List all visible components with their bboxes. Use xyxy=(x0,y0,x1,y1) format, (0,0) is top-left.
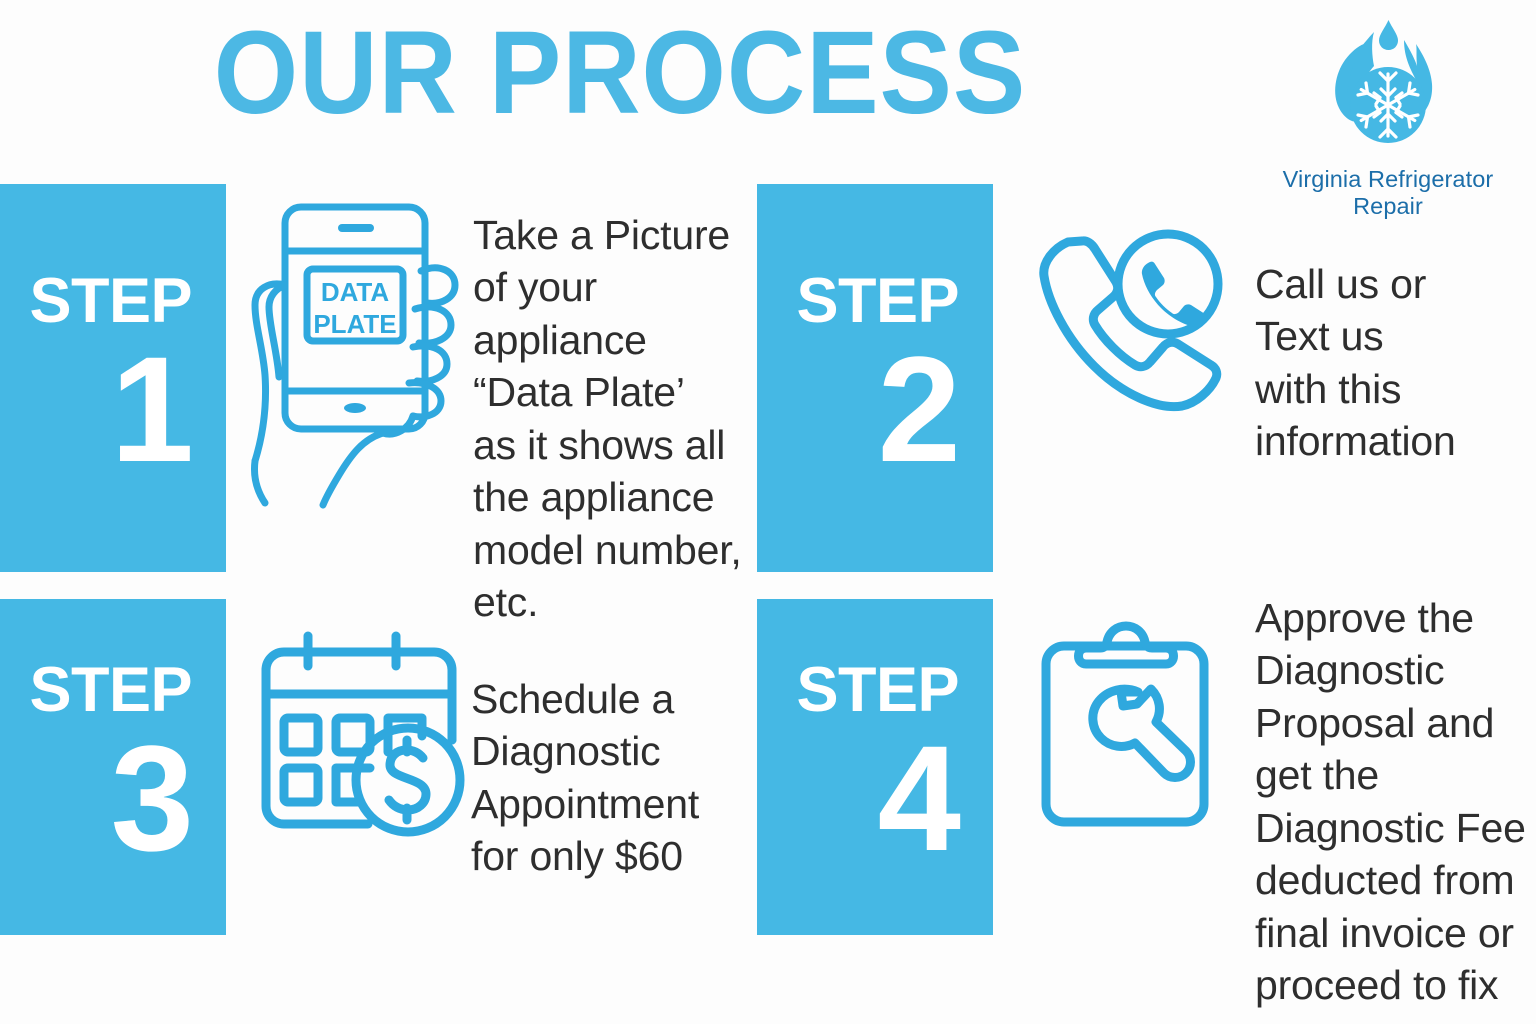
step-text-4: Approve the Diagnostic Proposal and get … xyxy=(1255,592,1536,1012)
step-text-3: Schedule a Diagnostic Appointment for on… xyxy=(471,673,761,883)
step-label-4: STEP xyxy=(796,661,959,721)
calendar-dollar-icon xyxy=(256,622,468,844)
step-text-2: Call us or Text us with this information xyxy=(1255,258,1536,468)
flame-snowflake-droplet-logo-icon xyxy=(1304,18,1472,170)
brand-name-line-2: Repair xyxy=(1353,193,1423,219)
brand-logo: Virginia Refrigerator Repair xyxy=(1262,18,1514,221)
step-badge-3: STEP 3 xyxy=(0,599,226,935)
data-plate-line-1: DATA xyxy=(321,277,390,307)
step-text-1: Take a Picture of your appliance “Data P… xyxy=(473,209,758,629)
step-label-3: STEP xyxy=(29,661,192,721)
data-plate-line-2: PLATE xyxy=(313,309,396,339)
step-label-1: STEP xyxy=(29,272,192,332)
step-label-2: STEP xyxy=(796,272,959,332)
brand-name: Virginia Refrigerator Repair xyxy=(1262,166,1514,221)
phone-in-hand-icon: DATA PLATE xyxy=(243,193,475,511)
phone-call-icon xyxy=(1032,228,1232,418)
step-badge-2: STEP 2 xyxy=(757,184,993,572)
step-number-3: 3 xyxy=(111,723,192,873)
step-number-4: 4 xyxy=(878,723,959,873)
step-number-2: 2 xyxy=(878,334,959,484)
page-title: OUR PROCESS xyxy=(50,14,1191,132)
clipboard-wrench-icon xyxy=(1034,612,1226,834)
step-badge-4: STEP 4 xyxy=(757,599,993,935)
step-badge-1: STEP 1 xyxy=(0,184,226,572)
brand-name-line-1: Virginia Refrigerator xyxy=(1283,166,1494,192)
step-number-1: 1 xyxy=(111,334,192,484)
